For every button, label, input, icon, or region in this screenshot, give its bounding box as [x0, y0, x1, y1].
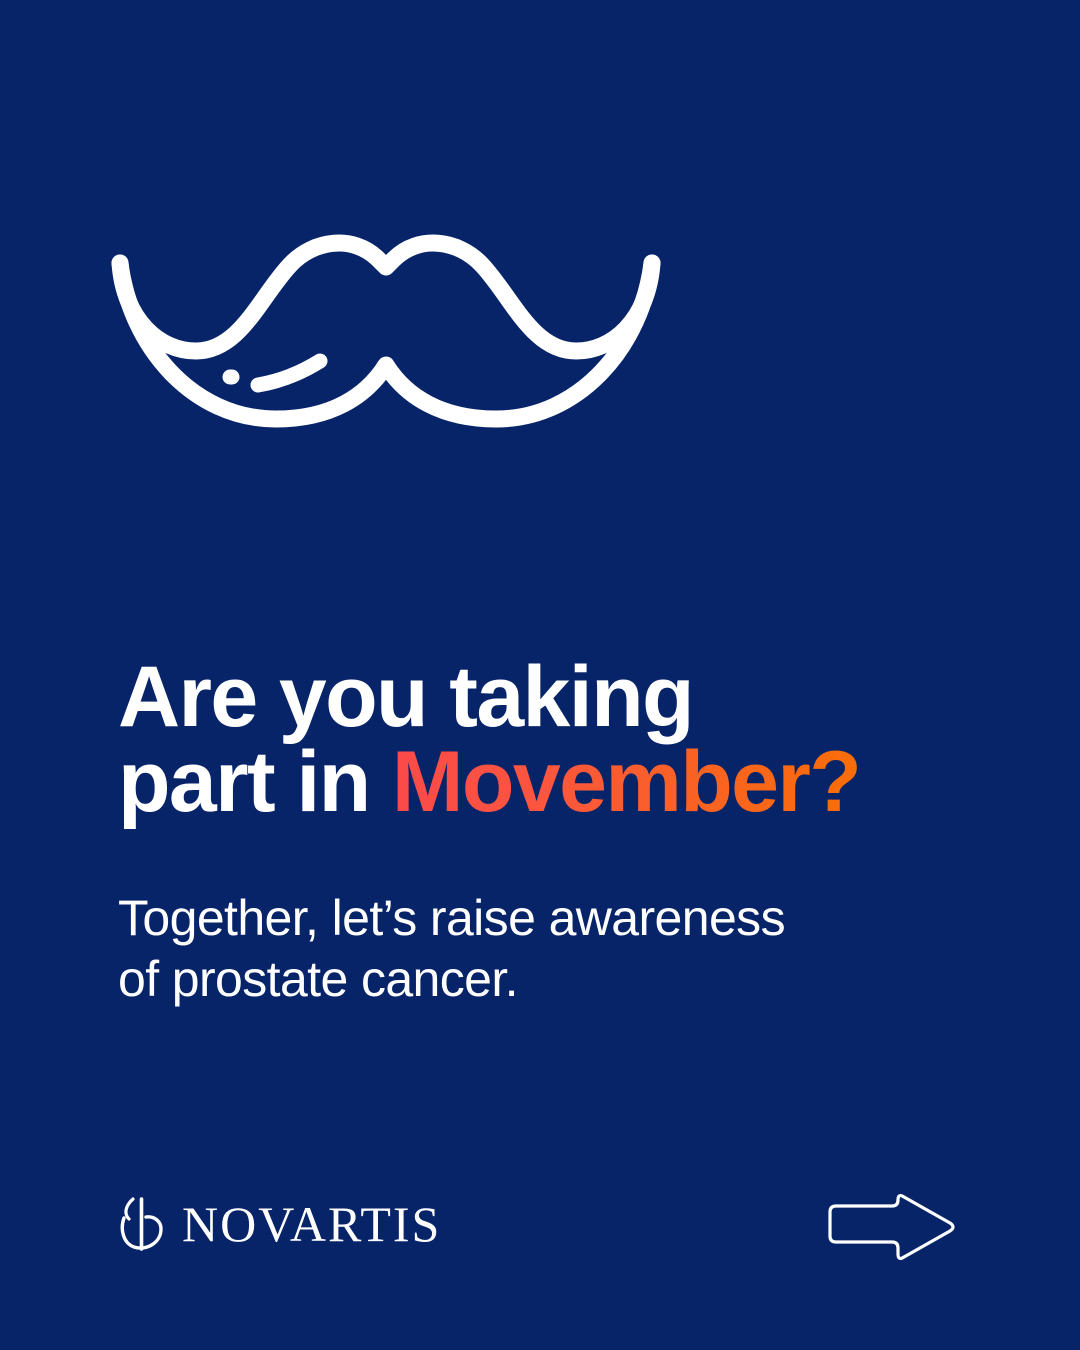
headline-line-2: part in Movember?	[118, 740, 978, 825]
headline-accent-movember: Movember?	[392, 734, 860, 830]
page-title: Are you taking part in Movember?	[118, 655, 978, 825]
subtitle: Together, let’s raise awareness of prost…	[118, 888, 928, 1009]
mustache-icon	[108, 225, 664, 430]
movember-awareness-slide: Are you taking part in Movember? Togethe…	[0, 0, 1080, 1350]
subtitle-line-1: Together, let’s raise awareness	[118, 888, 928, 949]
headline-line-1: Are you taking	[118, 655, 978, 740]
subtitle-line-2: of prostate cancer.	[118, 949, 928, 1010]
novartis-logo: NOVARTIS	[116, 1194, 441, 1256]
novartis-wordmark: NOVARTIS	[182, 1199, 441, 1251]
headline-prefix: part in	[118, 734, 392, 830]
novartis-flame-symbol	[116, 1195, 168, 1255]
arrow-right-outline-icon[interactable]	[820, 1190, 962, 1264]
